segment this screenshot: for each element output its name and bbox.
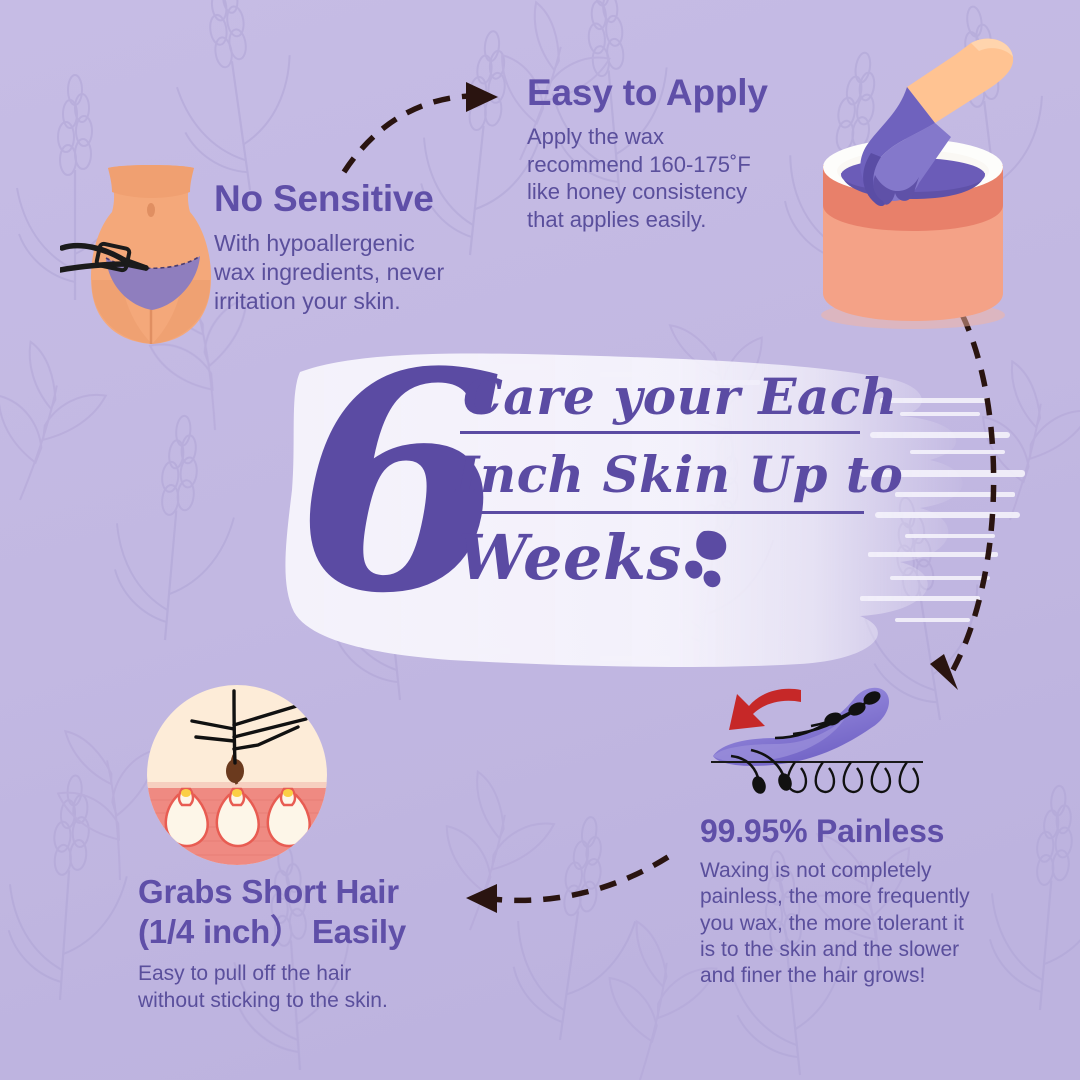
headline-block: 6 Care your Each Inch Skin Up to Weeks	[278, 345, 1018, 645]
feature-grabs-short-hair: Grabs Short Hair (1/4 inch） Easily Easy …	[138, 875, 488, 1014]
infographic-canvas: No Sensitive With hypoallergenic wax ing…	[0, 0, 1080, 1080]
feature-grabs-short-hair-body: Easy to pull off the hair without sticki…	[138, 961, 488, 1014]
feature-no-sensitive: No Sensitive With hypoallergenic wax ing…	[214, 180, 514, 316]
headline-sparkle-icon	[674, 527, 734, 591]
body-line: painless, the more frequently	[700, 884, 1030, 910]
arrow-painless-to-grabs-path	[492, 857, 668, 900]
feature-easy-to-apply: Easy to Apply Apply the wax recommend 16…	[527, 74, 797, 234]
title-line: (1/4 inch） Easily	[138, 915, 488, 950]
body-line: Easy to pull off the hair	[138, 961, 488, 987]
body-line: recommend 160-175˚F	[527, 151, 797, 179]
body-line: wax ingredients, never	[214, 258, 514, 287]
body-line: Waxing is not completely	[700, 858, 1030, 884]
headline-rule-1	[460, 431, 860, 434]
wax-pot-spatula-illustration	[775, 25, 1050, 330]
feature-no-sensitive-title: No Sensitive	[214, 180, 514, 219]
feature-grabs-short-hair-title: Grabs Short Hair (1/4 inch） Easily	[138, 875, 488, 949]
body-line: With hypoallergenic	[214, 229, 514, 258]
feature-easy-to-apply-title: Easy to Apply	[527, 74, 797, 113]
body-line: and finer the hair grows!	[700, 963, 1030, 989]
body-line: that applies easily.	[527, 206, 797, 234]
wax-strip-pull-illustration	[705, 672, 955, 817]
feature-easy-to-apply-body: Apply the wax recommend 160-175˚F like h…	[527, 123, 797, 234]
arrow-body-to-apply-path	[344, 96, 470, 172]
feature-painless-title: 99.95% Painless	[700, 815, 1030, 849]
headline-line-2: Inch Skin Up to	[456, 445, 903, 504]
body-line: without sticking to the skin.	[138, 988, 488, 1014]
hair-follicle-skin-cross-section-illustration	[130, 685, 345, 865]
title-line: Grabs Short Hair	[138, 875, 488, 910]
feature-no-sensitive-body: With hypoallergenic wax ingredients, nev…	[214, 229, 514, 316]
body-line: like honey consistency	[527, 178, 797, 206]
headline-line-1: Care your Each	[463, 367, 898, 426]
red-pull-arrow	[729, 689, 801, 730]
feature-painless: 99.95% Painless Waxing is not completely…	[700, 815, 1030, 990]
body-line: is to the skin and the slower	[700, 937, 1030, 963]
headline-rule-2	[456, 511, 864, 514]
headline-line-3: Weeks	[458, 521, 682, 594]
body-line: Apply the wax	[527, 123, 797, 151]
arrow-head-right	[466, 82, 498, 112]
body-line: you wax, the more tolerant it	[700, 911, 1030, 937]
feature-painless-body: Waxing is not completely painless, the m…	[700, 858, 1030, 990]
